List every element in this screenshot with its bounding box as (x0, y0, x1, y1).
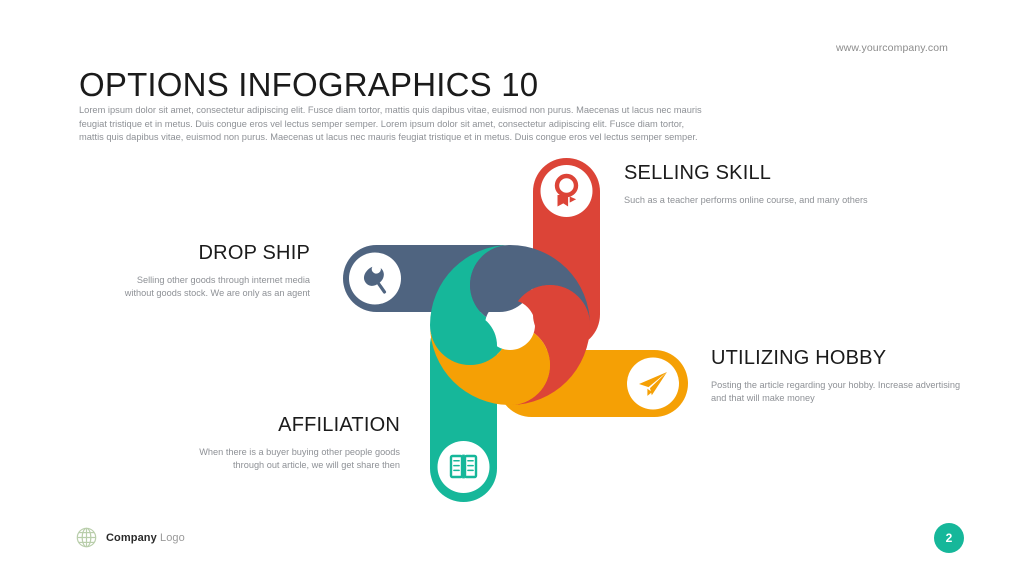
footer-logo-bold: Company (106, 532, 157, 544)
slide-canvas: www.yourcompany.com OPTIONS INFOGRAPHICS… (0, 0, 1024, 576)
option-title-utilizing-hobby: UTILIZING HOBBY (711, 346, 971, 370)
option-description-drop-ship: Selling other goods through internet med… (110, 274, 310, 299)
icon-bubble-utilizing-hobby[interactable] (627, 358, 679, 410)
intro-paragraph: Lorem ipsum dolor sit amet, consectetur … (79, 104, 709, 144)
icon-bubble-bg-top (541, 165, 593, 217)
footer-logo-text: Company Logo (106, 532, 185, 544)
page-number-badge: 2 (934, 523, 964, 553)
option-label-utilizing-hobby: UTILIZING HOBBY Posting the article rega… (711, 346, 971, 404)
company-website-url: www.yourcompany.com (836, 42, 948, 54)
option-description-utilizing-hobby: Posting the article regarding your hobby… (711, 379, 971, 404)
option-label-drop-ship: DROP SHIP Selling other goods through in… (110, 241, 310, 299)
footer-logo[interactable]: Company Logo (76, 527, 185, 548)
center-rosette (430, 245, 590, 405)
icon-bubble-affiliation[interactable] (438, 441, 490, 493)
icon-bubble-bg-right (627, 358, 679, 410)
icon-bubble-drop-ship[interactable] (349, 253, 401, 305)
option-title-drop-ship: DROP SHIP (110, 241, 310, 265)
footer-logo-light: Logo (157, 532, 185, 544)
icon-bubble-selling-skill[interactable] (541, 165, 593, 217)
pinwheel-infographic (330, 150, 700, 510)
page-title: OPTIONS INFOGRAPHICS 10 (79, 66, 538, 104)
globe-icon (76, 527, 97, 548)
